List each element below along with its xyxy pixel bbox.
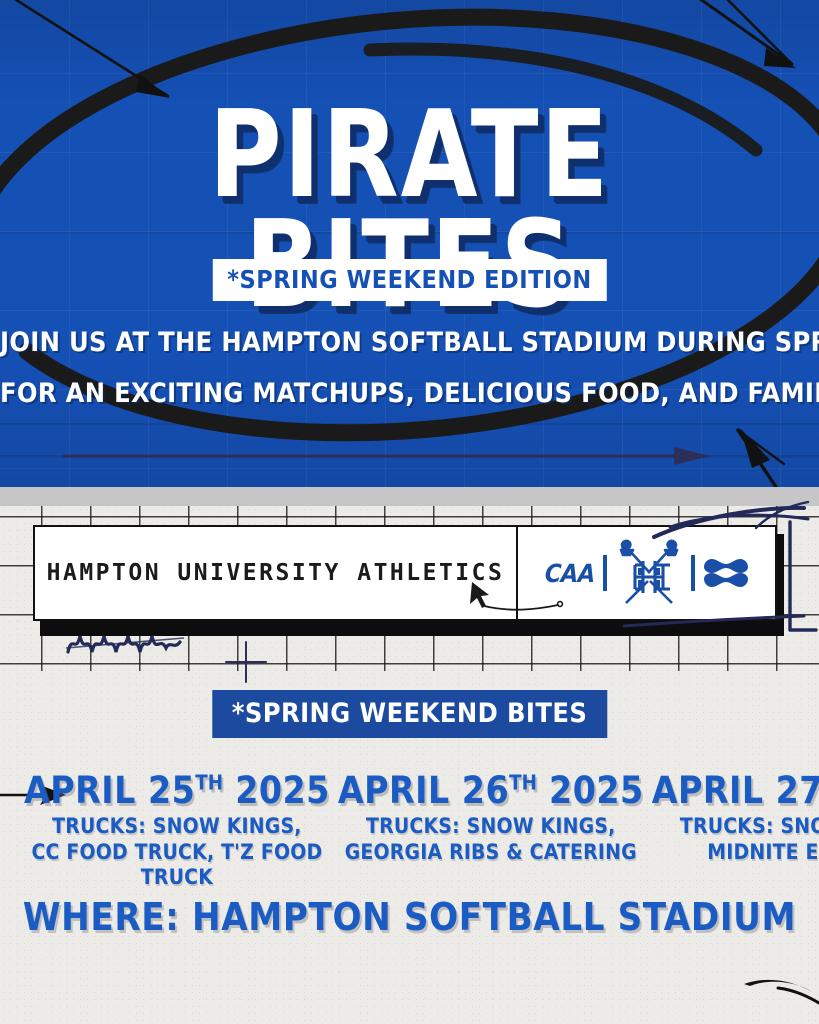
date-trucks-2-line2: GEORGIA RIBS & CATERING	[338, 840, 644, 866]
section-badge: *SPRING WEEKEND BITES	[212, 690, 607, 738]
panel-band-line-3	[0, 455, 819, 458]
venue-line: WHERE: HAMPTON SOFTBALL STADIUM	[0, 895, 819, 939]
edition-badge: *SPRING WEEKEND EDITION	[212, 259, 606, 301]
date-heading-2: APRIL 26TH 2025	[338, 772, 644, 809]
date-ordinal-1: TH	[195, 771, 223, 795]
date-trucks-3-line1: TRUCKS: SNOW KINGS,	[652, 814, 819, 840]
under-armour-logo-icon	[704, 558, 748, 588]
banner-title: HAMPTON UNIVERSITY ATHLETICS	[35, 527, 518, 619]
date-trucks-3: TRUCKS: SNOW KINGS, MIDNITE EXPRESS	[652, 814, 819, 865]
date-trucks-1-line2: CC FOOD TRUCK, T'Z FOOD TRUCK	[24, 840, 330, 891]
date-column-2: APRIL 26TH 2025 TRUCKS: SNOW KINGS, GEOR…	[334, 772, 648, 865]
subtitle-line-1: JOIN US AT THE HAMPTON SOFTBALL STADIUM …	[0, 327, 819, 358]
hero-panel: PIRATE BITES *SPRING WEEKEND EDITION JOI…	[0, 0, 819, 487]
banner-logo-row: CAA	[518, 527, 775, 619]
subtitle-line-2: FOR AN EXCITING MATCHUPS, DELICIOUS FOOD…	[0, 378, 819, 409]
athletics-banner: HAMPTON UNIVERSITY ATHLETICS CAA	[33, 525, 777, 621]
dates-row: APRIL 25TH 2025 TRUCKS: SNOW KINGS, CC F…	[20, 772, 799, 891]
divider-bar-left-icon	[603, 555, 607, 591]
date-trucks-2: TRUCKS: SNOW KINGS, GEORGIA RIBS & CATER…	[338, 814, 644, 865]
date-month-day-3: APRIL 27	[652, 769, 819, 812]
date-heading-3: APRIL 27TH 2025	[652, 772, 819, 809]
date-trucks-3-line2: MIDNITE EXPRESS	[652, 840, 819, 866]
divider-bar-right-icon	[691, 555, 695, 591]
date-month-day-2: APRIL 26	[338, 769, 509, 812]
gray-divider-strip	[0, 487, 819, 506]
date-trucks-1: TRUCKS: SNOW KINGS, CC FOOD TRUCK, T'Z F…	[24, 814, 330, 891]
panel-band-line-2	[0, 423, 819, 425]
date-trucks-2-line1: TRUCKS: SNOW KINGS,	[338, 814, 644, 840]
caa-wordmark-icon: CAA	[544, 559, 595, 588]
hampton-hu-pirate-logo-icon	[616, 537, 682, 609]
date-heading-1: APRIL 25TH 2025	[24, 772, 330, 809]
date-year-2: 2025	[549, 769, 644, 812]
date-month-day-1: APRIL 25	[24, 769, 195, 812]
date-ordinal-2: TH	[509, 771, 537, 795]
date-column-3: APRIL 27TH 2025 TRUCKS: SNOW KINGS, MIDN…	[648, 772, 819, 865]
poster-canvas: PIRATE BITES *SPRING WEEKEND EDITION JOI…	[0, 0, 819, 1024]
date-column-1: APRIL 25TH 2025 TRUCKS: SNOW KINGS, CC F…	[20, 772, 334, 891]
date-trucks-1-line1: TRUCKS: SNOW KINGS,	[24, 814, 330, 840]
date-year-1: 2025	[235, 769, 330, 812]
